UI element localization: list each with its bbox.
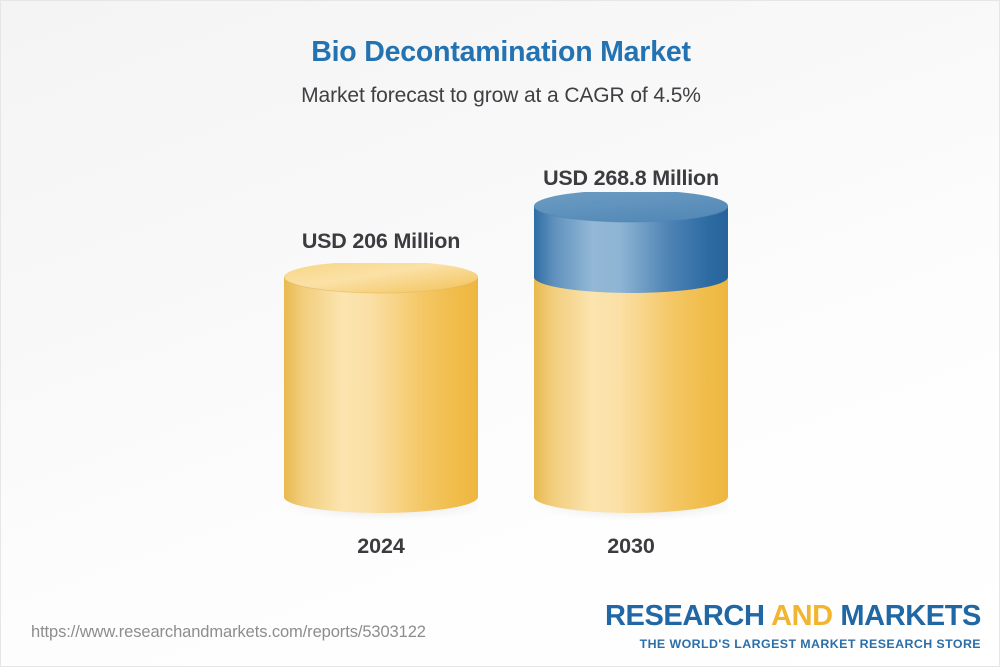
bar-value-label-2030: USD 268.8 Million	[534, 166, 728, 191]
bar-category-label-2024: 2024	[284, 534, 478, 559]
bar-group-2024: USD 206 Million	[284, 1, 478, 601]
logo-word-markets: MARKETS	[840, 600, 981, 632]
bar-category-label-2030: 2030	[534, 534, 728, 559]
bar-value-label-2024: USD 206 Million	[284, 229, 478, 254]
bar-group-2030: USD 268.8 Million	[534, 1, 728, 601]
chart-plot-area: USD 206 Million	[1, 1, 1000, 601]
research-and-markets-logo[interactable]: RESEARCH AND MARKETS THE WORLD'S LARGEST…	[605, 602, 981, 651]
logo-word-research: RESEARCH	[605, 600, 765, 632]
source-url[interactable]: https://www.researchandmarkets.com/repor…	[31, 623, 426, 642]
infographic-canvas: Bio Decontamination Market Market foreca…	[0, 0, 1000, 667]
cylinder-bar-2030	[534, 192, 728, 523]
cylinder-bar-2024	[284, 263, 478, 523]
logo-wordmark: RESEARCH AND MARKETS	[605, 602, 981, 631]
logo-word-and: AND	[771, 600, 833, 632]
logo-tagline: THE WORLD'S LARGEST MARKET RESEARCH STOR…	[605, 637, 981, 651]
